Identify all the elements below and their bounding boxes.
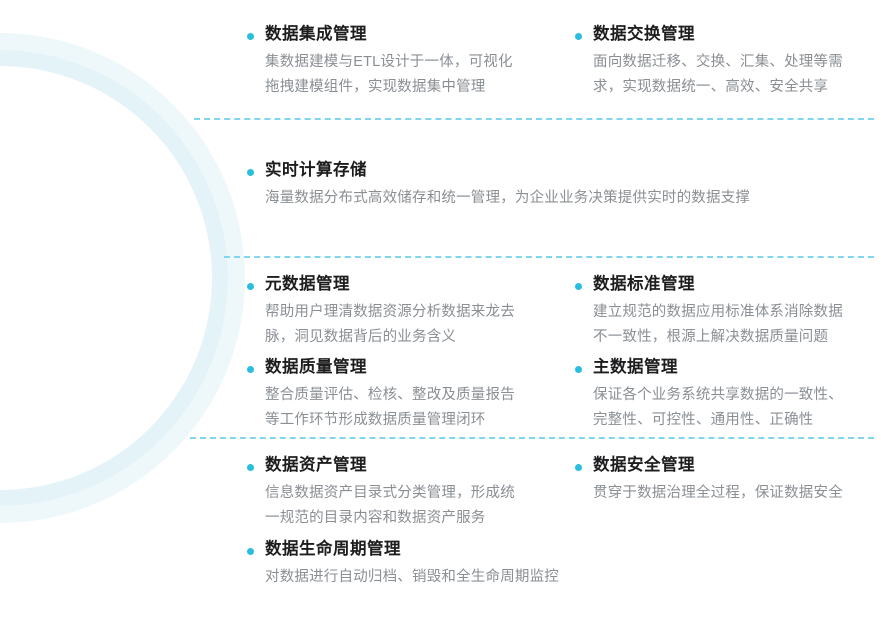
item-title: 数据生命周期管理	[265, 539, 667, 559]
item-description: 建立规范的数据应用标准体系消除数据 不一致性，根源上解决数据质量问题	[593, 300, 875, 350]
bullet-dot-icon	[247, 283, 254, 290]
item-description: 整合质量评估、检核、整改及质量报告 等工作环节形成数据质量管理闭环	[265, 383, 547, 433]
item-description: 海量数据分布式高效储存和统一管理，为企业业务决策提供实时的数据支撑	[265, 186, 857, 211]
bullet-dot-icon	[247, 33, 254, 40]
item-description: 集数据建模与ETL设计于一体，可视化 拖拽建模组件，实现数据集中管理	[265, 50, 547, 100]
bullet-dot-icon	[575, 33, 582, 40]
item-title: 数据质量管理	[265, 357, 547, 377]
item-title: 实时计算存储	[265, 160, 857, 180]
list-item[interactable]: 数据生命周期管理 对数据进行自动归档、销毁和全生命周期监控	[247, 539, 667, 590]
separator-rule-3	[190, 437, 874, 439]
list-item[interactable]: 数据质量管理 整合质量评估、检核、整改及质量报告 等工作环节形成数据质量管理闭环	[247, 357, 547, 433]
item-title: 主数据管理	[593, 357, 875, 377]
separator-rule-2	[224, 256, 874, 258]
item-title: 数据资产管理	[265, 455, 547, 475]
item-description: 帮助用户理清数据资源分析数据来龙去 脉，洞见数据背后的业务含义	[265, 300, 547, 350]
item-title: 元数据管理	[265, 274, 547, 294]
item-description: 面向数据迁移、交换、汇集、处理等需 求，实现数据统一、高效、安全共享	[593, 50, 875, 100]
list-item[interactable]: 主数据管理 保证各个业务系统共享数据的一致性、 完整性、可控性、通用性、正确性	[575, 357, 875, 433]
item-description: 保证各个业务系统共享数据的一致性、 完整性、可控性、通用性、正确性	[593, 383, 875, 433]
bullet-dot-icon	[575, 464, 582, 471]
bullet-dot-icon	[247, 464, 254, 471]
bullet-dot-icon	[247, 366, 254, 373]
item-description: 对数据进行自动归档、销毁和全生命周期监控	[265, 565, 667, 590]
item-description: 贯穿于数据治理全过程，保证数据安全	[593, 481, 875, 506]
bullet-dot-icon	[575, 283, 582, 290]
list-item[interactable]: 实时计算存储 海量数据分布式高效储存和统一管理，为企业业务决策提供实时的数据支撑	[247, 160, 857, 211]
bullet-dot-icon	[247, 169, 254, 176]
list-item[interactable]: 数据安全管理 贯穿于数据治理全过程，保证数据安全	[575, 455, 875, 506]
item-description: 信息数据资产目录式分类管理，形成统 一规范的目录内容和数据资产服务	[265, 481, 547, 531]
capability-wheel: 数据采集 数据存储 数据管理 数据服务 睿 治	[0, 28, 250, 528]
list-item[interactable]: 数据交换管理 面向数据迁移、交换、汇集、处理等需 求，实现数据统一、高效、安全共…	[575, 24, 875, 100]
wheel-outer-pale-ring	[0, 33, 245, 523]
item-title: 数据交换管理	[593, 24, 875, 44]
list-item[interactable]: 数据集成管理 集数据建模与ETL设计于一体，可视化 拖拽建模组件，实现数据集中管…	[247, 24, 547, 100]
list-item[interactable]: 数据标准管理 建立规范的数据应用标准体系消除数据 不一致性，根源上解决数据质量问…	[575, 274, 875, 350]
list-item[interactable]: 数据资产管理 信息数据资产目录式分类管理，形成统 一规范的目录内容和数据资产服务	[247, 455, 547, 531]
list-item[interactable]: 元数据管理 帮助用户理清数据资源分析数据来龙去 脉，洞见数据背后的业务含义	[247, 274, 547, 350]
item-title: 数据安全管理	[593, 455, 875, 475]
item-title: 数据标准管理	[593, 274, 875, 294]
bullet-dot-icon	[247, 548, 254, 555]
separator-rule-1	[194, 118, 874, 120]
bullet-dot-icon	[575, 366, 582, 373]
item-title: 数据集成管理	[265, 24, 547, 44]
